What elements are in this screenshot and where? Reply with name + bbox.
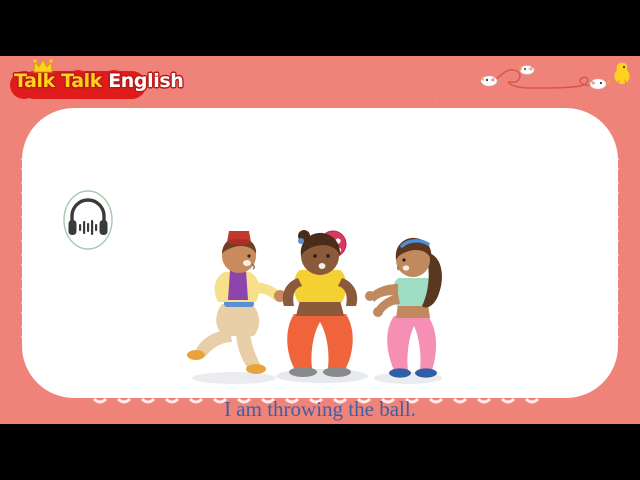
character-girl-right <box>365 238 442 378</box>
hand <box>365 291 375 301</box>
shoe <box>187 350 205 360</box>
chick-icon <box>615 63 632 84</box>
crown-icon <box>32 58 54 74</box>
letterbox-top <box>0 0 640 56</box>
slide-background: Talk Talk English <box>0 56 640 424</box>
character-boy-running <box>187 231 286 374</box>
screen: Talk Talk English <box>0 0 640 480</box>
logo-word-3: English <box>108 70 183 92</box>
shoe <box>415 368 437 377</box>
hand <box>373 307 383 317</box>
brand-logo: Talk Talk English <box>8 64 189 98</box>
audio-play-button[interactable] <box>62 189 114 251</box>
bird-icon <box>518 66 534 75</box>
caption-line-1: I am throwing the ball. <box>0 396 640 423</box>
caption-text: I am throwing the ball. What are you doi… <box>0 396 640 424</box>
character-girl-center <box>283 230 357 377</box>
headphones-icon[interactable] <box>62 189 114 251</box>
bird-icon <box>590 79 611 89</box>
logo-word-2: Talk <box>61 70 102 92</box>
letterbox-bottom <box>0 424 640 480</box>
bird-trail-line <box>482 70 598 88</box>
shadow <box>192 372 276 384</box>
shoe <box>323 367 351 377</box>
three-children-playing-ball <box>170 226 470 401</box>
shoe <box>289 367 317 377</box>
birds-decoration <box>476 58 636 102</box>
shoe <box>246 364 266 374</box>
shoe <box>389 368 411 377</box>
